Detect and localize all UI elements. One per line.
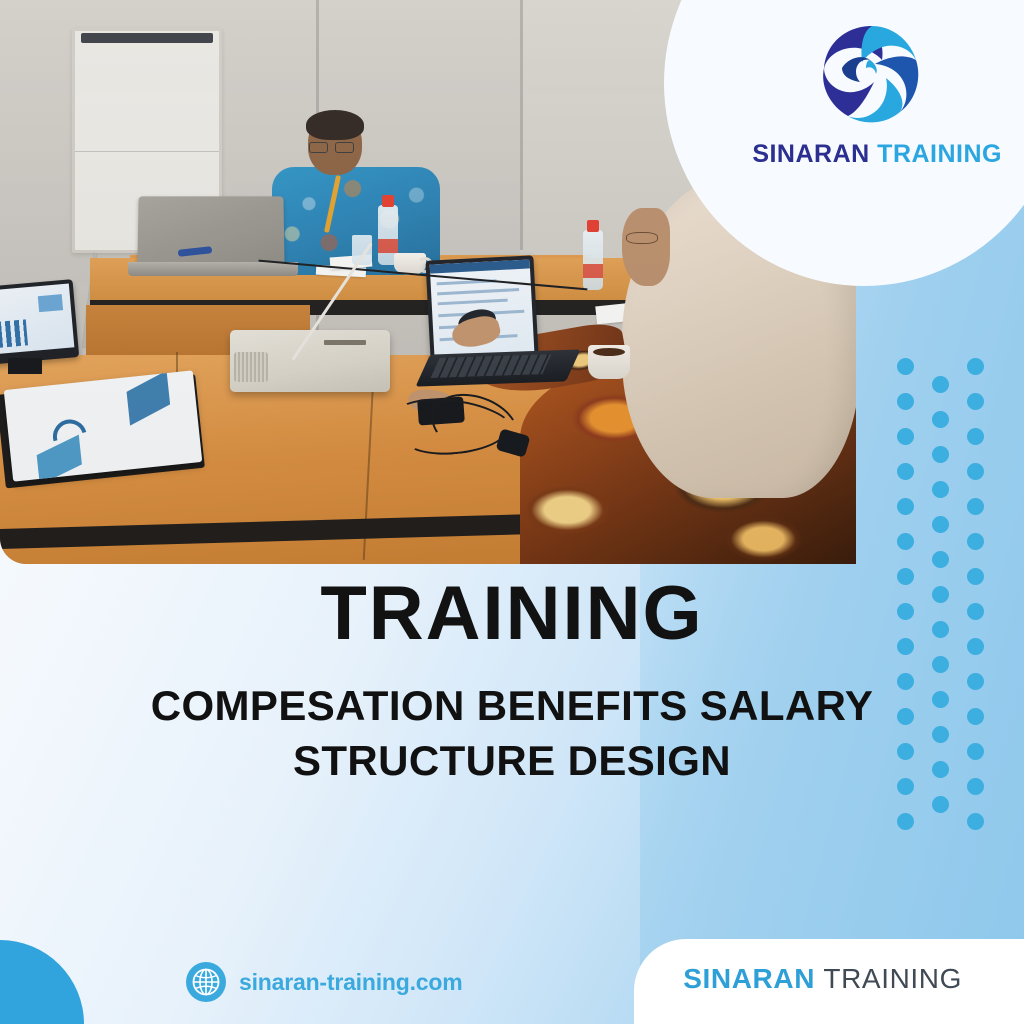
decorative-dot: [967, 358, 984, 375]
decorative-dot: [897, 428, 914, 445]
projector: [230, 330, 390, 392]
female-participant-face: [622, 208, 670, 286]
decorative-dot: [967, 463, 984, 480]
decorative-dot: [967, 428, 984, 445]
poster-canvas: SINARAN TRAINING TRAINING COMPESATION BE…: [0, 0, 1024, 1024]
decorative-dot: [897, 358, 914, 375]
decorative-dot: [932, 446, 949, 463]
page-title: TRAINING: [0, 576, 1024, 652]
male-participant-hair: [306, 110, 364, 140]
water-bottle: [583, 230, 603, 290]
brand-name-primary: SINARAN: [752, 140, 869, 168]
decorative-dot: [967, 533, 984, 550]
headline-block: TRAINING COMPESATION BENEFITS SALARY STR…: [0, 576, 1024, 789]
binder-logo-icon: [47, 413, 93, 459]
laptop-base: [128, 262, 298, 276]
eyeglasses-icon: [626, 232, 658, 244]
footer-bar: sinaran-training.com SINARAN TRAINING: [0, 924, 1024, 1024]
corner-accent-shape: [0, 940, 84, 1024]
eyeglasses-icon: [309, 142, 357, 153]
decorative-dot: [932, 516, 949, 533]
laptop-keyboard: [431, 354, 552, 378]
laptop-screen-back: [137, 196, 284, 266]
wall-seam: [520, 0, 523, 250]
website-link[interactable]: sinaran-training.com: [186, 962, 463, 1002]
projector-lens: [234, 352, 268, 382]
coffee-mug: [588, 345, 630, 379]
footer-brand-primary: SINARAN: [683, 963, 815, 994]
decorative-dot: [897, 463, 914, 480]
monitor-screen: [0, 283, 74, 354]
decorative-dot: [932, 796, 949, 813]
app-titlebar: [430, 259, 530, 273]
subtitle-line-2: STRUCTURE DESIGN: [86, 733, 938, 788]
brand-logo-text: SINARAN TRAINING: [752, 140, 1002, 169]
swirl-logo-icon: [812, 16, 932, 136]
decorative-dot: [932, 481, 949, 498]
footer-brand-secondary: TRAINING: [823, 963, 962, 994]
website-url-text: sinaran-training.com: [239, 969, 463, 996]
projector-brand-label: [324, 340, 366, 345]
footer-brand: SINARAN TRAINING: [683, 963, 962, 995]
desktop-monitor: [0, 279, 79, 365]
decorative-dot: [897, 393, 914, 410]
decorative-dot: [932, 551, 949, 568]
brand-name-secondary: TRAINING: [877, 140, 1002, 168]
decorative-dot: [932, 411, 949, 428]
decorative-dot: [967, 393, 984, 410]
decorative-dot: [932, 376, 949, 393]
drinking-glass: [352, 235, 372, 265]
decorative-dot: [967, 813, 984, 830]
branded-binder: [4, 370, 203, 481]
decorative-dot: [897, 498, 914, 515]
decorative-dot: [967, 498, 984, 515]
globe-icon: [186, 962, 226, 1002]
decorative-dot: [897, 533, 914, 550]
decorative-dot: [897, 813, 914, 830]
subtitle-line-1: COMPESATION BENEFITS SALARY: [86, 678, 938, 733]
monitor-stand: [8, 358, 42, 374]
page-subtitle: COMPESATION BENEFITS SALARY STRUCTURE DE…: [0, 678, 1024, 789]
